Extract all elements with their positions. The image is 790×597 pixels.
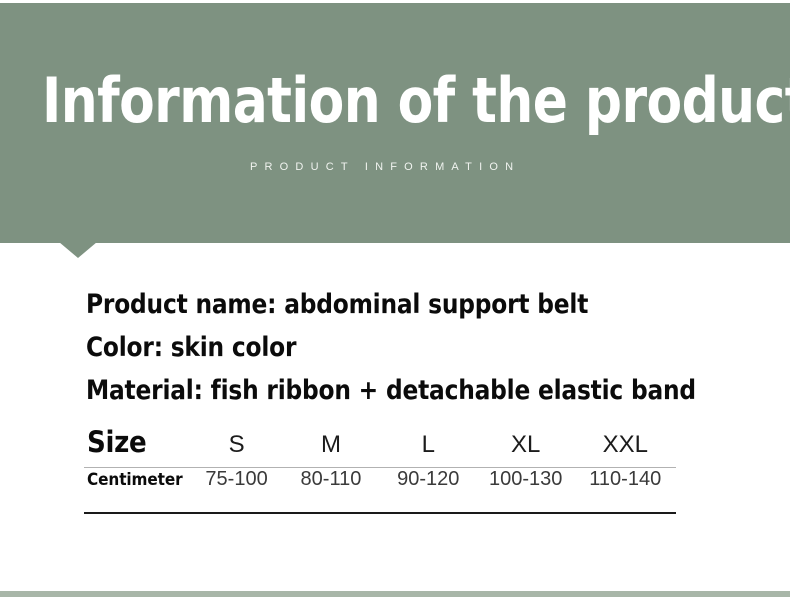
page-title: Information of the product	[42, 69, 790, 133]
measurement-unit-label: Centimeter	[84, 468, 191, 514]
size-header-xl: XL	[477, 425, 575, 468]
product-info-block: Product name: abdominal support belt Col…	[86, 283, 766, 412]
measurement-value-m: 80-110	[282, 468, 379, 514]
size-header-m: M	[282, 425, 379, 468]
size-table: Size S M L XL XXL Centimeter 75-100 80-1…	[84, 425, 676, 514]
page-subtitle: PRODUCT INFORMATION	[250, 161, 520, 173]
size-header-label: Size	[84, 425, 191, 468]
product-information-page: Information of the product PRODUCT INFOR…	[0, 0, 790, 597]
size-header-xxl: XXL	[575, 425, 677, 468]
measurement-value-l: 90-120	[380, 468, 477, 514]
measurement-value-xl: 100-130	[477, 468, 575, 514]
footer-accent-bar	[0, 591, 790, 597]
size-header-s: S	[191, 425, 282, 468]
measurement-value-s: 75-100	[191, 468, 282, 514]
table-row-header: Size S M L XL XXL	[84, 425, 676, 468]
header-banner: Information of the product PRODUCT INFOR…	[0, 3, 790, 243]
product-name-line: Product name: abdominal support belt	[86, 283, 739, 326]
product-color-line: Color: skin color	[86, 326, 739, 369]
size-header-l: L	[380, 425, 477, 468]
product-material-line: Material: fish ribbon + detachable elast…	[86, 369, 739, 412]
table-row: Centimeter 75-100 80-110 90-120 100-130 …	[84, 468, 676, 514]
measurement-value-xxl: 110-140	[575, 468, 677, 514]
chevron-down-notch-icon	[59, 242, 97, 258]
